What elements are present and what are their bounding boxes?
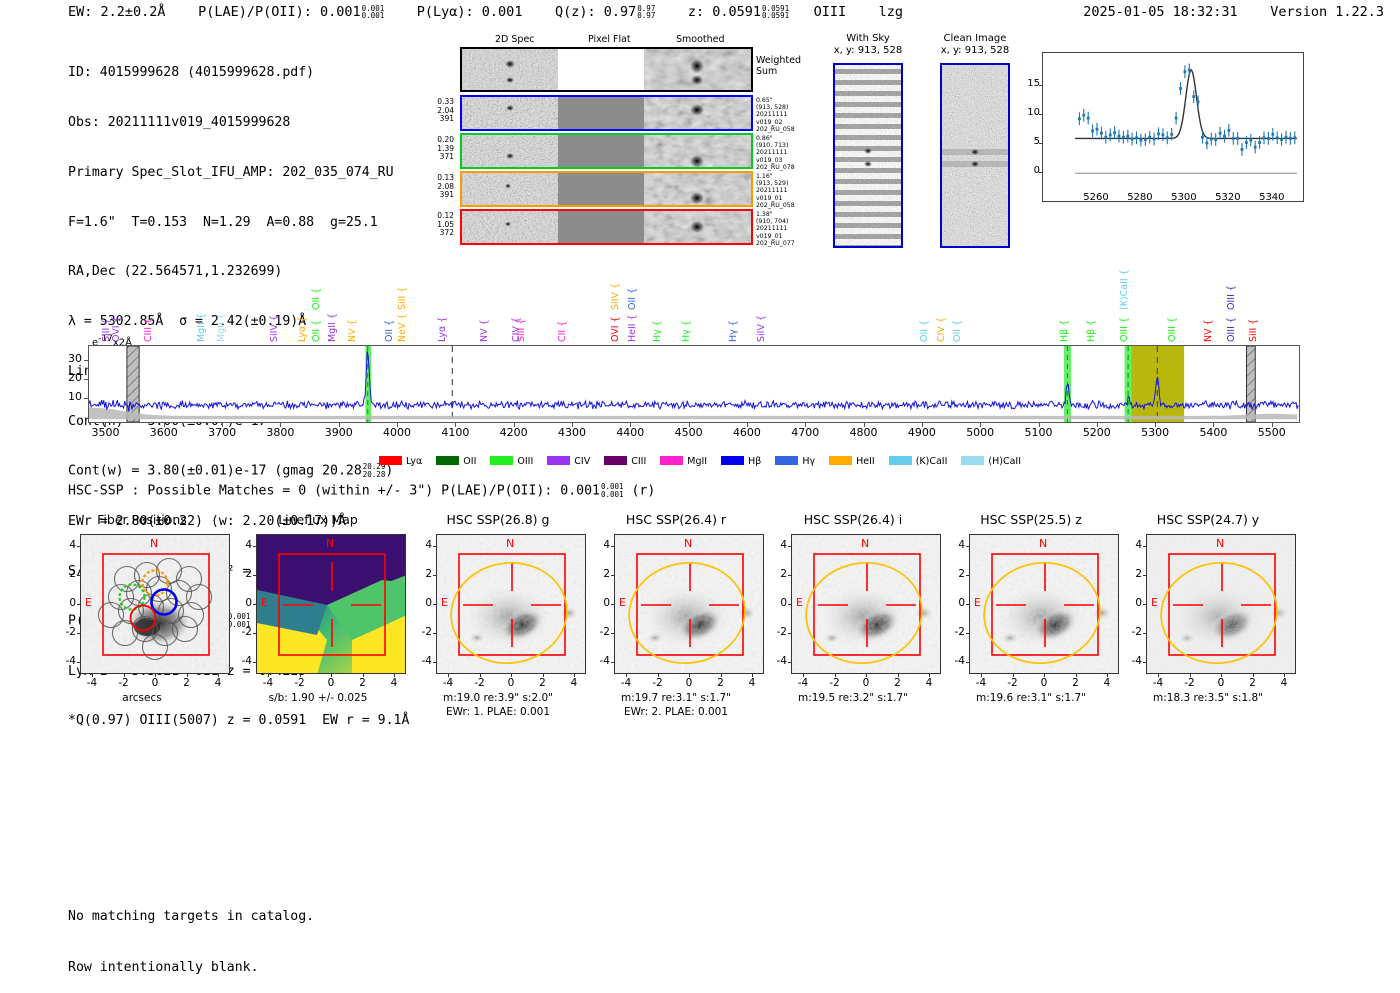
hsc-ytick: 0	[949, 597, 965, 609]
spectrum-xtick-mark	[1213, 423, 1214, 427]
hsc-xtick-mark	[866, 674, 867, 677]
hsc-xtick: 4	[1097, 677, 1117, 689]
header-z-label: z: 0.0591	[688, 4, 761, 20]
hsc-ytick-mark	[77, 575, 80, 576]
hsc-ytick-mark	[966, 575, 969, 576]
hsc-ytick-mark	[788, 633, 791, 634]
hsc-ytick: -4	[771, 655, 787, 667]
emission-line-label: SiII {	[397, 262, 408, 310]
spectrum-xtick: 4100	[435, 426, 475, 439]
emission-line-label: OII {	[627, 262, 638, 310]
hsc-ytick: 2	[949, 568, 965, 580]
emission-line-label: MgII {	[216, 284, 227, 342]
hsc-xtick-mark	[331, 674, 332, 677]
info-id: ID: 4015999628 (4015999628.pdf)	[68, 65, 409, 82]
hsc-ytick-mark	[611, 662, 614, 663]
hsc-xtick-mark	[1284, 674, 1285, 677]
hsc-ytick-mark	[77, 604, 80, 605]
hsc-xtick-mark	[658, 674, 659, 677]
hsc-xtick-mark	[394, 674, 395, 677]
spectrum-xtick-mark	[922, 423, 923, 427]
spectrum-xtick-mark	[1272, 423, 1273, 427]
fiber-smoothed-image	[644, 97, 751, 129]
spectrum-xtick: 5500	[1252, 426, 1292, 439]
legend-swatch	[490, 456, 513, 465]
emission-line-label: NV {	[479, 284, 490, 342]
spectrum-xtick-mark	[1097, 423, 1098, 427]
hsc-ytick: 4	[949, 539, 965, 551]
hsc-ytick-mark	[433, 575, 436, 576]
header-ew: EW: 2.2±0.2Å	[68, 4, 166, 20]
header-qz-range: 0.970.97	[637, 5, 655, 20]
hsc-ytick-mark	[966, 633, 969, 634]
compass-north-label: N	[861, 537, 869, 550]
legend-item: CIV	[547, 456, 590, 467]
emission-line-label: SiIV {	[610, 262, 621, 310]
legend-label: CIV	[574, 456, 590, 467]
hsc-ytick: -4	[236, 655, 252, 667]
hsc-xtick-mark	[1013, 674, 1014, 677]
fiber-pixelflat-image	[558, 97, 644, 129]
hsc-ytick-mark	[611, 633, 614, 634]
bottom-note-line2: Row intentionally blank.	[68, 959, 314, 976]
fiber-row-metrics: 0.201.39371	[424, 136, 454, 162]
hsc-ytick: -4	[416, 655, 432, 667]
hsc-ytick-mark	[788, 604, 791, 605]
hsc-xtick: 0	[1034, 677, 1054, 689]
hsc-xtick-mark	[1107, 674, 1108, 677]
hsc-xtick: 4	[919, 677, 939, 689]
hsc-ytick-mark	[433, 546, 436, 547]
lineplot-xtick: 5340	[1250, 192, 1294, 203]
fiber-smoothed-image	[644, 135, 751, 167]
lineplot-ytick-mark	[1039, 172, 1043, 173]
legend-swatch	[721, 456, 744, 465]
legend-item: Hβ	[721, 456, 761, 467]
spectrum-xtick-mark	[222, 423, 223, 427]
emission-line-label: CIII {	[143, 284, 154, 342]
hsc-xtick: -4	[258, 677, 278, 689]
spectrum-xtick: 5100	[1019, 426, 1059, 439]
hsc-ytick: 0	[594, 597, 610, 609]
hsc-panel-caption-1: m:19.5 re:3.2" s:1.7"	[763, 692, 943, 705]
hsc-ytick-mark	[253, 546, 256, 547]
spectrum-ytick: 20	[54, 371, 82, 384]
spectrum-xtick: 4800	[844, 426, 884, 439]
hsc-ytick-mark	[433, 633, 436, 634]
hsc-ytick: 4	[236, 539, 252, 551]
hsc-xtick: 4	[384, 677, 404, 689]
full-spectrum-plot	[88, 345, 1300, 423]
spectrum-xtick-mark	[105, 423, 106, 427]
hsc-xtick-mark	[155, 674, 156, 677]
lineplot-ytick: 15	[1020, 78, 1040, 89]
emission-line-label: Hγ {	[728, 284, 739, 342]
compass-north-label: N	[150, 537, 158, 550]
hsc-ytick: 4	[594, 539, 610, 551]
legend-swatch	[604, 456, 627, 465]
header-timestamp-version: 2025-01-05 18:32:31 Version 1.22.3	[1083, 4, 1384, 20]
emission-line-label: Hγ {	[681, 284, 692, 342]
legend-swatch	[775, 456, 798, 465]
weighted-sum-2dspec-image	[462, 49, 558, 90]
hsc-xtick-mark	[124, 674, 125, 677]
hsc-xtick: 2	[353, 677, 373, 689]
legend-label: HeII	[856, 456, 875, 467]
emission-line-label: OII {	[384, 284, 395, 342]
legend-item: MgII	[660, 456, 707, 467]
fiber-row	[460, 133, 753, 169]
hsc-xtick: -2	[290, 677, 310, 689]
hsc-ytick: 4	[60, 539, 76, 551]
hsc-xtick-mark	[835, 674, 836, 677]
hsc-ytick-mark	[966, 546, 969, 547]
hsc-xtick-mark	[574, 674, 575, 677]
hsc-ytick: 0	[236, 597, 252, 609]
emission-line-label: SiIV {	[756, 284, 767, 342]
compass-east-label: E	[1151, 596, 1158, 609]
spectrum-xtick: 4300	[552, 426, 592, 439]
compass-east-label: E	[261, 596, 268, 609]
hsc-xtick-mark	[480, 674, 481, 677]
emission-line-label: Hβ {	[1086, 284, 1097, 342]
compass-east-label: E	[85, 596, 92, 609]
hsc-ytick: 0	[416, 597, 432, 609]
hsc-ytick-mark	[253, 604, 256, 605]
hsc-panel-title: Fiber Positions	[52, 512, 232, 527]
header-plae-range: 0.0010.001	[362, 5, 385, 20]
hsc-panel-image	[969, 534, 1119, 674]
hsc-xtick-mark	[929, 674, 930, 677]
hsc-xtick: -2	[114, 677, 134, 689]
spectrum-xtick-mark	[164, 423, 165, 427]
hsc-xtick: 2	[533, 677, 553, 689]
legend-label: CIII	[631, 456, 646, 467]
spectrum-xtick-mark	[630, 423, 631, 427]
legend-swatch	[660, 456, 683, 465]
spectrum-xtick: 3800	[260, 426, 300, 439]
spectrum-xtick-mark	[1155, 423, 1156, 427]
hsc-xtick: -2	[648, 677, 668, 689]
spectrum-xtick-mark	[397, 423, 398, 427]
hsc-xtick-mark	[752, 674, 753, 677]
legend-swatch	[547, 456, 570, 465]
hsc-panel-title: Lineflux Map	[228, 512, 408, 527]
spectrum-xtick-mark	[455, 423, 456, 427]
hsc-xtick-mark	[268, 674, 269, 677]
legend-label: MgII	[687, 456, 707, 467]
hsc-panel-title: HSC SSP(26.4) r	[586, 512, 766, 527]
weighted-sum-label: WeightedSum	[756, 55, 801, 77]
hsc-panel-caption-1: m:19.0 re:3.9" s:2.0"	[408, 692, 588, 705]
emission-line-label: OIII {	[1226, 262, 1237, 310]
spectrum-xtick-mark	[747, 423, 748, 427]
hsc-ytick: -2	[771, 626, 787, 638]
legend-swatch	[436, 456, 459, 465]
hsc-ytick: 2	[1126, 568, 1142, 580]
header-plae-label: P(LAE)/P(OII): 0.001	[198, 4, 361, 20]
hsc-ytick-mark	[966, 662, 969, 663]
fiber-row-meta: 0.86"(910, 713)20211111v019_03202_RU_078	[756, 135, 816, 171]
hsc-xtick-mark	[803, 674, 804, 677]
info-radec: RA,Dec (22.564571,1.232699)	[68, 264, 409, 281]
legend-label: Lyα	[406, 456, 422, 467]
hsc-panel-caption-1: arcsecs	[52, 692, 232, 705]
hsc-xtick: -4	[616, 677, 636, 689]
hsc-xtick-mark	[92, 674, 93, 677]
legend-swatch	[379, 456, 402, 465]
hsc-xtick-mark	[300, 674, 301, 677]
hsc-ytick-mark	[77, 546, 80, 547]
info-primary-spec: Primary Spec_Slot_IFU_AMP: 202_035_074_R…	[68, 165, 409, 182]
fiber-row	[460, 171, 753, 207]
lineplot-xtick: 5300	[1162, 192, 1206, 203]
spectrum-xtick: 3600	[144, 426, 184, 439]
lineplot-xtick: 5280	[1118, 192, 1162, 203]
hsc-xtick: 4	[564, 677, 584, 689]
hsc-panel-image	[436, 534, 586, 674]
emission-line-label: Lyα {	[297, 284, 308, 342]
hsc-panel-image	[80, 534, 230, 674]
header-flag: lzg	[879, 4, 903, 20]
legend-swatch	[961, 456, 984, 465]
hsc-ytick-mark	[1143, 546, 1146, 547]
hsc-ytick: -2	[60, 626, 76, 638]
spectrum-ytick-mark	[84, 379, 88, 380]
spectrum-xtick-mark	[1039, 423, 1040, 427]
hsc-xtick-mark	[1076, 674, 1077, 677]
spectrum-xtick: 3500	[85, 426, 125, 439]
hsc-ytick: 4	[771, 539, 787, 551]
info-solution: *Q(0.97) OIII(5007) z = 0.0591 EW r = 9.…	[68, 713, 409, 730]
hsc-panel-caption-1: m:19.6 re:3.1" s:1.7"	[941, 692, 1121, 705]
hsc-ytick-mark	[77, 662, 80, 663]
spectrum-ytick: 10	[54, 390, 82, 403]
fiber-pixelflat-image	[558, 173, 644, 205]
legend-swatch	[829, 456, 852, 465]
hsc-xtick-mark	[218, 674, 219, 677]
fiber-row-meta: 0.65"(913, 528)20211111v019_02202_RU_058	[756, 97, 816, 133]
hsc-panel-image	[1146, 534, 1296, 674]
emission-line-label: SiII {	[101, 284, 112, 342]
hsc-ytick-mark	[1143, 575, 1146, 576]
hsc-xtick: -2	[825, 677, 845, 689]
hsc-ytick-mark	[611, 546, 614, 547]
legend-item: (H)CaII	[961, 456, 1021, 467]
hsc-ytick: -4	[1126, 655, 1142, 667]
hsc-ytick: 0	[60, 597, 76, 609]
hsc-xtick: -4	[82, 677, 102, 689]
hsc-ytick-mark	[611, 575, 614, 576]
hsc-xtick-mark	[1221, 674, 1222, 677]
hsc-xtick: 4	[1274, 677, 1294, 689]
header-qz-label: Q(z): 0.97	[555, 4, 636, 20]
fiber-row-meta: 1.38"(910, 704)20211111v019_01202_RU_077	[756, 211, 816, 247]
hsc-panel-caption-2: EWr: 1. PLAE: 0.001	[408, 706, 588, 719]
lineplot-ytick: 5	[1020, 136, 1040, 147]
emission-line-label: MgII {	[327, 284, 338, 342]
legend-item: OIII	[490, 456, 533, 467]
compass-north-label: N	[506, 537, 514, 550]
hsc-ytick-mark	[788, 546, 791, 547]
fiber-smoothed-image	[644, 173, 751, 205]
fiber-pixelflat-image	[558, 211, 644, 243]
info-seeing: F=1.6" T=0.153 N=1.29 A=0.88 g=25.1	[68, 215, 409, 232]
hsc-ytick: 2	[416, 568, 432, 580]
fiber-pixelflat-image	[558, 135, 644, 167]
hsc-ytick-mark	[788, 575, 791, 576]
fiber-row-meta: 1.16"(913, 529)20211111v019_01202_RU_058	[756, 173, 816, 209]
spectrum-xtick: 4700	[785, 426, 825, 439]
emission-line-label: SiIV {	[269, 284, 280, 342]
emission-line-label: SiII {	[516, 284, 527, 342]
spectrum-xtick-mark	[339, 423, 340, 427]
weighted-sum-pixelflat-image	[558, 49, 644, 90]
hsc-xtick: -4	[1148, 677, 1168, 689]
hsc-xtick: -4	[793, 677, 813, 689]
emission-line-label: CIV {	[936, 284, 947, 342]
emission-line-label: CII {	[557, 284, 568, 342]
hsc-panel-caption-2: EWr: 2. PLAE: 0.001	[586, 706, 766, 719]
compass-north-label: N	[684, 537, 692, 550]
legend-label: OIII	[517, 456, 533, 467]
hsc-xtick-mark	[1190, 674, 1191, 677]
hsc-ytick: 2	[236, 568, 252, 580]
hsc-xtick: 0	[856, 677, 876, 689]
hsc-panel-caption-1: m:18.3 re:3.5" s:1.8"	[1118, 692, 1298, 705]
header-z-range: 0.05910.0591	[762, 5, 789, 20]
spectrum-xtick: 5200	[1077, 426, 1117, 439]
emission-line-label: NV {	[1203, 284, 1214, 342]
bottom-note: No matching targets in catalog. Row inte…	[68, 874, 314, 993]
hsc-xtick: -4	[438, 677, 458, 689]
hsc-ytick-mark	[433, 662, 436, 663]
info-obs: Obs: 20211111v019_4015999628	[68, 115, 409, 132]
hsc-ytick: 2	[60, 568, 76, 580]
line-profile-plot	[1042, 52, 1304, 202]
emission-line-label: OII {	[952, 284, 963, 342]
hsc-xtick-mark	[981, 674, 982, 677]
spectrum-xtick-mark	[864, 423, 865, 427]
col-title-2dspec: 2D Spec	[495, 34, 535, 45]
legend-item: OII	[436, 456, 476, 467]
legend-item: HeII	[829, 456, 875, 467]
legend-label: (K)CaII	[916, 456, 948, 467]
hsc-panel-title: HSC SSP(26.4) i	[763, 512, 943, 527]
cutout-with-sky-image	[833, 63, 903, 248]
header-plya: P(Lyα): 0.001	[417, 4, 523, 20]
spectrum-xtick-mark	[514, 423, 515, 427]
hsc-xtick-mark	[721, 674, 722, 677]
hsc-ytick: 0	[771, 597, 787, 609]
compass-east-label: E	[441, 596, 448, 609]
hsc-ytick: 0	[1126, 597, 1142, 609]
hsc-panel-image	[256, 534, 406, 674]
emission-line-label: OII {	[311, 262, 322, 310]
cutout-title-clean-image: Clean Imagex, y: 913, 528	[925, 33, 1025, 57]
header-version: Version 1.22.3	[1270, 4, 1384, 20]
spectrum-xtick-mark	[280, 423, 281, 427]
spectrum-xtick-mark	[980, 423, 981, 427]
emission-line-label: MgII {	[196, 284, 207, 342]
hsc-xtick-mark	[1253, 674, 1254, 677]
fiber-smoothed-image	[644, 211, 751, 243]
hsc-ytick: -4	[949, 655, 965, 667]
spectrum-ytick-mark	[84, 360, 88, 361]
hsc-panel-title: HSC SSP(25.5) z	[941, 512, 1121, 527]
col-title-pixelflat: Pixel Flat	[588, 34, 631, 45]
spectrum-legend: LyαOIIOIIICIVCIIIMgIIHβHγHeII(K)CaII(H)C…	[0, 456, 1400, 467]
hsc-ytick: -2	[949, 626, 965, 638]
hsc-xtick: 2	[1243, 677, 1263, 689]
hsc-ytick-mark	[1143, 604, 1146, 605]
lineplot-xtick: 5260	[1074, 192, 1118, 203]
hsc-panel-caption-1: m:19.7 re:3.1" s:1.7"	[586, 692, 766, 705]
spectrum-xtick: 4500	[669, 426, 709, 439]
legend-label: OII	[463, 456, 476, 467]
hsc-xtick-mark	[543, 674, 544, 677]
hsc-panel-caption-1: s/b: 1.90 +/- 0.025	[228, 692, 408, 705]
lineplot-ytick: 10	[1020, 107, 1040, 118]
hsc-ytick-mark	[1143, 633, 1146, 634]
hsc-xtick-mark	[626, 674, 627, 677]
hsc-ytick-mark	[966, 604, 969, 605]
compass-north-label: N	[1216, 537, 1224, 550]
spectrum-xtick: 5400	[1193, 426, 1233, 439]
emission-line-label: OII {	[919, 284, 930, 342]
legend-item: Lyα	[379, 456, 422, 467]
hsc-xtick: -4	[971, 677, 991, 689]
hsc-xtick-mark	[898, 674, 899, 677]
header-line-id: OIII	[814, 4, 847, 20]
hsc-xtick: 0	[501, 677, 521, 689]
spectrum-xtick: 4600	[727, 426, 767, 439]
hsc-ytick-mark	[253, 633, 256, 634]
legend-item: CIII	[604, 456, 646, 467]
hsc-panel-image	[614, 534, 764, 674]
hsc-xtick-mark	[1044, 674, 1045, 677]
hsc-xtick: 0	[321, 677, 341, 689]
weighted-sum-panel	[460, 47, 753, 92]
hsc-ytick: -2	[1126, 626, 1142, 638]
cutout-title-with-sky: With Skyx, y: 913, 528	[820, 33, 916, 57]
spectrum-xtick: 4000	[377, 426, 417, 439]
spectrum-xtick: 4200	[494, 426, 534, 439]
hsc-xtick: 0	[145, 677, 165, 689]
emission-line-label: Hγ {	[652, 284, 663, 342]
lineplot-ytick: 0	[1020, 165, 1040, 176]
emission-line-label: NV {	[347, 284, 358, 342]
legend-label: Hβ	[748, 456, 761, 467]
legend-label: Hγ	[802, 456, 815, 467]
hsc-xtick: -2	[470, 677, 490, 689]
fiber-row	[460, 95, 753, 131]
spectrum-xtick-mark	[689, 423, 690, 427]
hsc-ytick: 2	[771, 568, 787, 580]
spectrum-xtick: 4400	[610, 426, 650, 439]
spectrum-xtick-mark	[805, 423, 806, 427]
spectrum-xtick: 4900	[902, 426, 942, 439]
hsc-xtick: 0	[679, 677, 699, 689]
hsc-section-header: HSC-SSP : Possible Matches = 0 (within +…	[68, 483, 655, 499]
emission-line-label: Hβ {	[1059, 284, 1070, 342]
fiber-2dspec-image	[462, 211, 558, 243]
legend-swatch	[889, 456, 912, 465]
hsc-xtick: -2	[1180, 677, 1200, 689]
hsc-xtick-mark	[1158, 674, 1159, 677]
hsc-ytick: 4	[416, 539, 432, 551]
emission-line-label: SiII {	[1248, 284, 1259, 342]
